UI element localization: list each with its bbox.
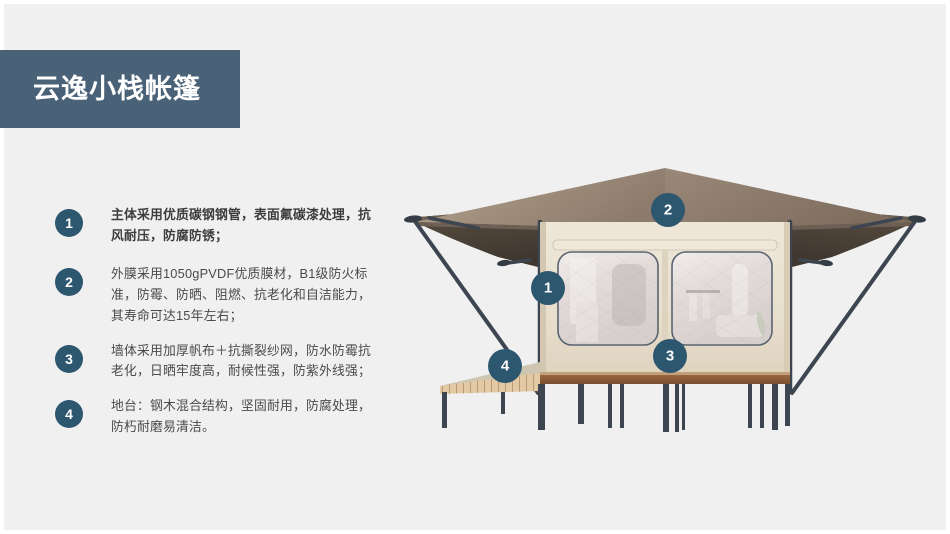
page-title: 云逸小栈帐篷	[33, 76, 201, 103]
feature-text-3: 墙体采用加厚帆布＋抗撕裂纱网，防水防霉抗老化，日晒牢度高，耐候性强，防紫外线强；	[111, 341, 379, 382]
feature-badge-4: 4	[55, 400, 83, 428]
feature-text-4: 地台：钢木混合结构，坚固耐用，防腐处理，防朽耐磨易清洁。	[111, 396, 379, 437]
feature-item-2: 2 外膜采用1050gPVDF优质膜材，B1级防火标准，防霉、防晒、阻燃、抗老化…	[55, 264, 385, 326]
feature-item-4: 4 地台：钢木混合结构，坚固耐用，防腐处理，防朽耐磨易清洁。	[55, 396, 385, 437]
feature-badge-2: 2	[55, 268, 83, 296]
feature-list: 1 主体采用优质碳钢钢管，表面氟碳漆处理，抗风耐压，防腐防锈； 2 外膜采用10…	[55, 205, 385, 437]
marker-1[interactable]: 1	[531, 271, 565, 305]
marker-4-label: 4	[501, 358, 510, 375]
title-banner: 云逸小栈帐篷	[0, 50, 240, 128]
marker-1-label: 1	[544, 280, 552, 297]
feature-badge-3: 3	[55, 345, 83, 373]
feature-item-3: 3 墙体采用加厚帆布＋抗撕裂纱网，防水防霉抗老化，日晒牢度高，耐候性强，防紫外线…	[55, 341, 385, 382]
tent-illustration: 1 2 3 4	[380, 160, 950, 460]
marker-2[interactable]: 2	[651, 193, 685, 227]
feature-text-1: 主体采用优质碳钢钢管，表面氟碳漆处理，抗风耐压，防腐防锈；	[111, 205, 379, 246]
list-gap	[55, 327, 385, 341]
marker-3-label: 3	[666, 348, 674, 365]
list-gap	[55, 246, 385, 264]
list-gap	[55, 382, 385, 396]
marker-3[interactable]: 3	[653, 339, 687, 373]
feature-badge-1: 1	[55, 209, 83, 237]
marker-4[interactable]: 4	[488, 349, 522, 383]
slide-page: 云逸小栈帐篷 1 主体采用优质碳钢钢管，表面氟碳漆处理，抗风耐压，防腐防锈； 2…	[0, 0, 950, 534]
marker-2-label: 2	[664, 202, 672, 219]
feature-text-2: 外膜采用1050gPVDF优质膜材，B1级防火标准，防霉、防晒、阻燃、抗老化和自…	[111, 264, 379, 326]
feature-item-1: 1 主体采用优质碳钢钢管，表面氟碳漆处理，抗风耐压，防腐防锈；	[55, 205, 385, 246]
